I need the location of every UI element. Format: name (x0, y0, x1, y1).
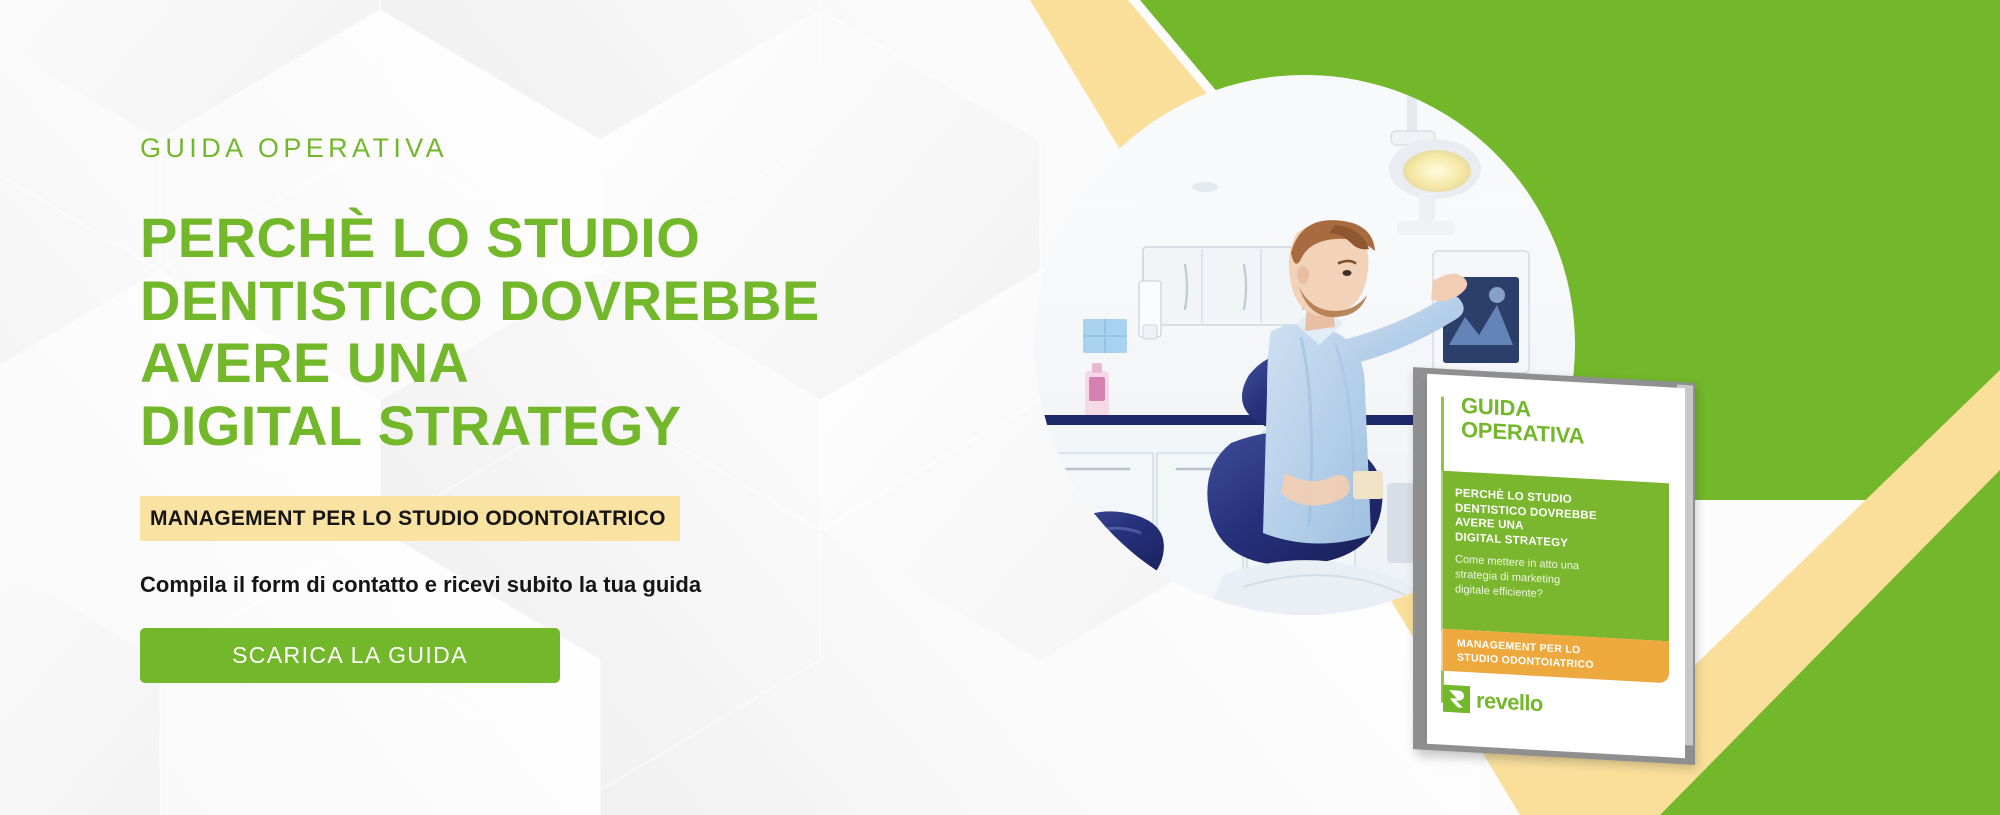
cover-description: Come mettere in atto una strategia di ma… (1455, 552, 1655, 608)
page-title: PERCHÈ LO STUDIO DENTISTICO DOVREBBE AVE… (140, 207, 860, 458)
hero-copy: GUIDA OPERATIVA PERCHÈ LO STUDIO DENTIST… (140, 135, 860, 683)
revello-logo-text: revello (1476, 689, 1543, 715)
download-guide-button[interactable]: SCARICA LA GUIDA (140, 628, 560, 683)
cover-green-accent-line (1441, 471, 1443, 629)
eyebrow-label: GUIDA OPERATIVA (140, 135, 860, 162)
headline-line-1: PERCHÈ LO STUDIO (140, 207, 860, 270)
headline-line-3: AVERE UNA (140, 332, 860, 395)
revello-logo: revello (1443, 685, 1543, 718)
cover-subtitle: PERCHÈ LO STUDIO DENTISTICO DOVREBBE AVE… (1455, 486, 1655, 556)
book-cover: GUIDA OPERATIVA PERCHÈ LO STUDIO DENTIST… (1427, 374, 1685, 758)
promo-banner: GUIDA OPERATIVA PERCHÈ LO STUDIO DENTIST… (0, 0, 2000, 815)
ebook-mockup: GUIDA OPERATIVA PERCHÈ LO STUDIO DENTIST… (1405, 375, 1705, 770)
cover-green-panel: PERCHÈ LO STUDIO DENTISTICO DOVREBBE AVE… (1441, 471, 1669, 642)
cover-orange-accent-line (1441, 629, 1443, 671)
headline-line-4: DIGITAL STRATEGY (140, 395, 860, 458)
revello-logo-mark-icon (1443, 685, 1470, 714)
highlight-banner-text: MANAGEMENT PER LO STUDIO ODONTOIATRICO (150, 508, 666, 529)
headline-line-2: DENTISTICO DOVREBBE (140, 270, 860, 333)
highlight-banner: MANAGEMENT PER LO STUDIO ODONTOIATRICO (140, 496, 680, 541)
cover-footer-text: MANAGEMENT PER LO STUDIO ODONTOIATRICO (1457, 637, 1669, 677)
cover-title: GUIDA OPERATIVA (1461, 394, 1669, 453)
lead-text: Compila il form di contatto e ricevi sub… (140, 574, 860, 596)
